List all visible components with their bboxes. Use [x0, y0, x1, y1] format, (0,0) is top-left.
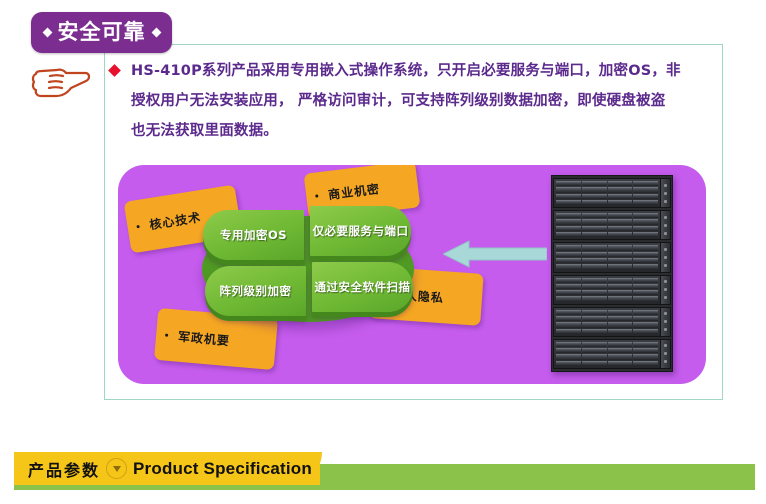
pie-segment-bottom-right: 通过安全软件扫描 [312, 262, 413, 312]
drive-bay-group [554, 179, 660, 207]
illustration-panel: 核心技术 商业机密 军政机要 个人隐私 专用加密OS 仅必要服务与端口 阵列级别… [118, 165, 706, 384]
pie-segment-top-right-label: 仅必要服务与端口 [313, 225, 409, 238]
section-badge: 安全可靠 [31, 12, 172, 53]
chassis-rail [660, 179, 670, 207]
description-line-1: HS-410P系列产品采用专用嵌入式操作系统，只开启必要服务与端口，加密OS，非 [131, 56, 681, 86]
pie-segment-bottom-right-label: 通过安全软件扫描 [315, 281, 411, 294]
pie-diagram: 专用加密OS 仅必要服务与端口 阵列级别加密 通过安全软件扫描 [200, 188, 420, 356]
chevron-down-icon [106, 458, 127, 479]
left-arrow-icon [443, 239, 547, 269]
chassis-rail [660, 308, 670, 336]
server-chassis [553, 307, 671, 337]
chassis-rail [660, 243, 670, 271]
chassis-rail [660, 211, 670, 239]
diamond-icon-left [42, 28, 52, 38]
description-line-2-row: 授权用户无法安装应用， 严格访问审计，可支持阵列级别数据加密，即使硬盘被盗 [110, 86, 710, 116]
description-line-3-row: 也无法获取里面数据。 [110, 116, 710, 146]
drive-bay-group [554, 211, 660, 239]
slide-root: 安全可靠 HS-410P系列产品采用专用嵌入式操作系统，只开启必要服务与端口，加… [0, 0, 766, 504]
drive-bay-group [554, 340, 660, 368]
footer-title-group: 产品参数 Product Specification [14, 452, 312, 485]
pie-segment-bottom-left: 阵列级别加密 [205, 266, 306, 316]
drive-bay-group [554, 243, 660, 271]
pie-segment-top-left-label: 专用加密OS [220, 229, 287, 242]
description-line-3: 也无法获取里面数据。 [131, 116, 278, 146]
description-line-2: 授权用户无法安装应用， 严格访问审计，可支持阵列级别数据加密，即使硬盘被盗 [131, 86, 665, 116]
server-chassis [553, 339, 671, 369]
server-chassis [553, 210, 671, 240]
diamond-icon-right [151, 28, 161, 38]
section-badge-label: 安全可靠 [58, 22, 146, 43]
footer-title-cn: 产品参数 [28, 457, 100, 481]
server-chassis [553, 178, 671, 208]
pie-segment-top-left: 专用加密OS [203, 210, 304, 260]
footer-title-en: Product Specification [133, 459, 312, 479]
callout-card-core-tech-label: 核心技术 [138, 208, 202, 234]
red-diamond-icon [108, 64, 121, 77]
pointing-hand-icon [30, 58, 96, 102]
description-line-1-row: HS-410P系列产品采用专用嵌入式操作系统，只开启必要服务与端口，加密OS，非 [110, 56, 710, 86]
server-chassis [553, 275, 671, 305]
drive-bay-group [554, 276, 660, 304]
pie-segment-top-right: 仅必要服务与端口 [310, 206, 411, 256]
description-block: HS-410P系列产品采用专用嵌入式操作系统，只开启必要服务与端口，加密OS，非… [110, 56, 710, 146]
server-rack-icon [551, 175, 673, 372]
chassis-rail [660, 340, 670, 368]
chassis-rail [660, 276, 670, 304]
server-chassis [553, 242, 671, 272]
drive-bay-group [554, 308, 660, 336]
pie-segment-bottom-left-label: 阵列级别加密 [220, 285, 292, 298]
